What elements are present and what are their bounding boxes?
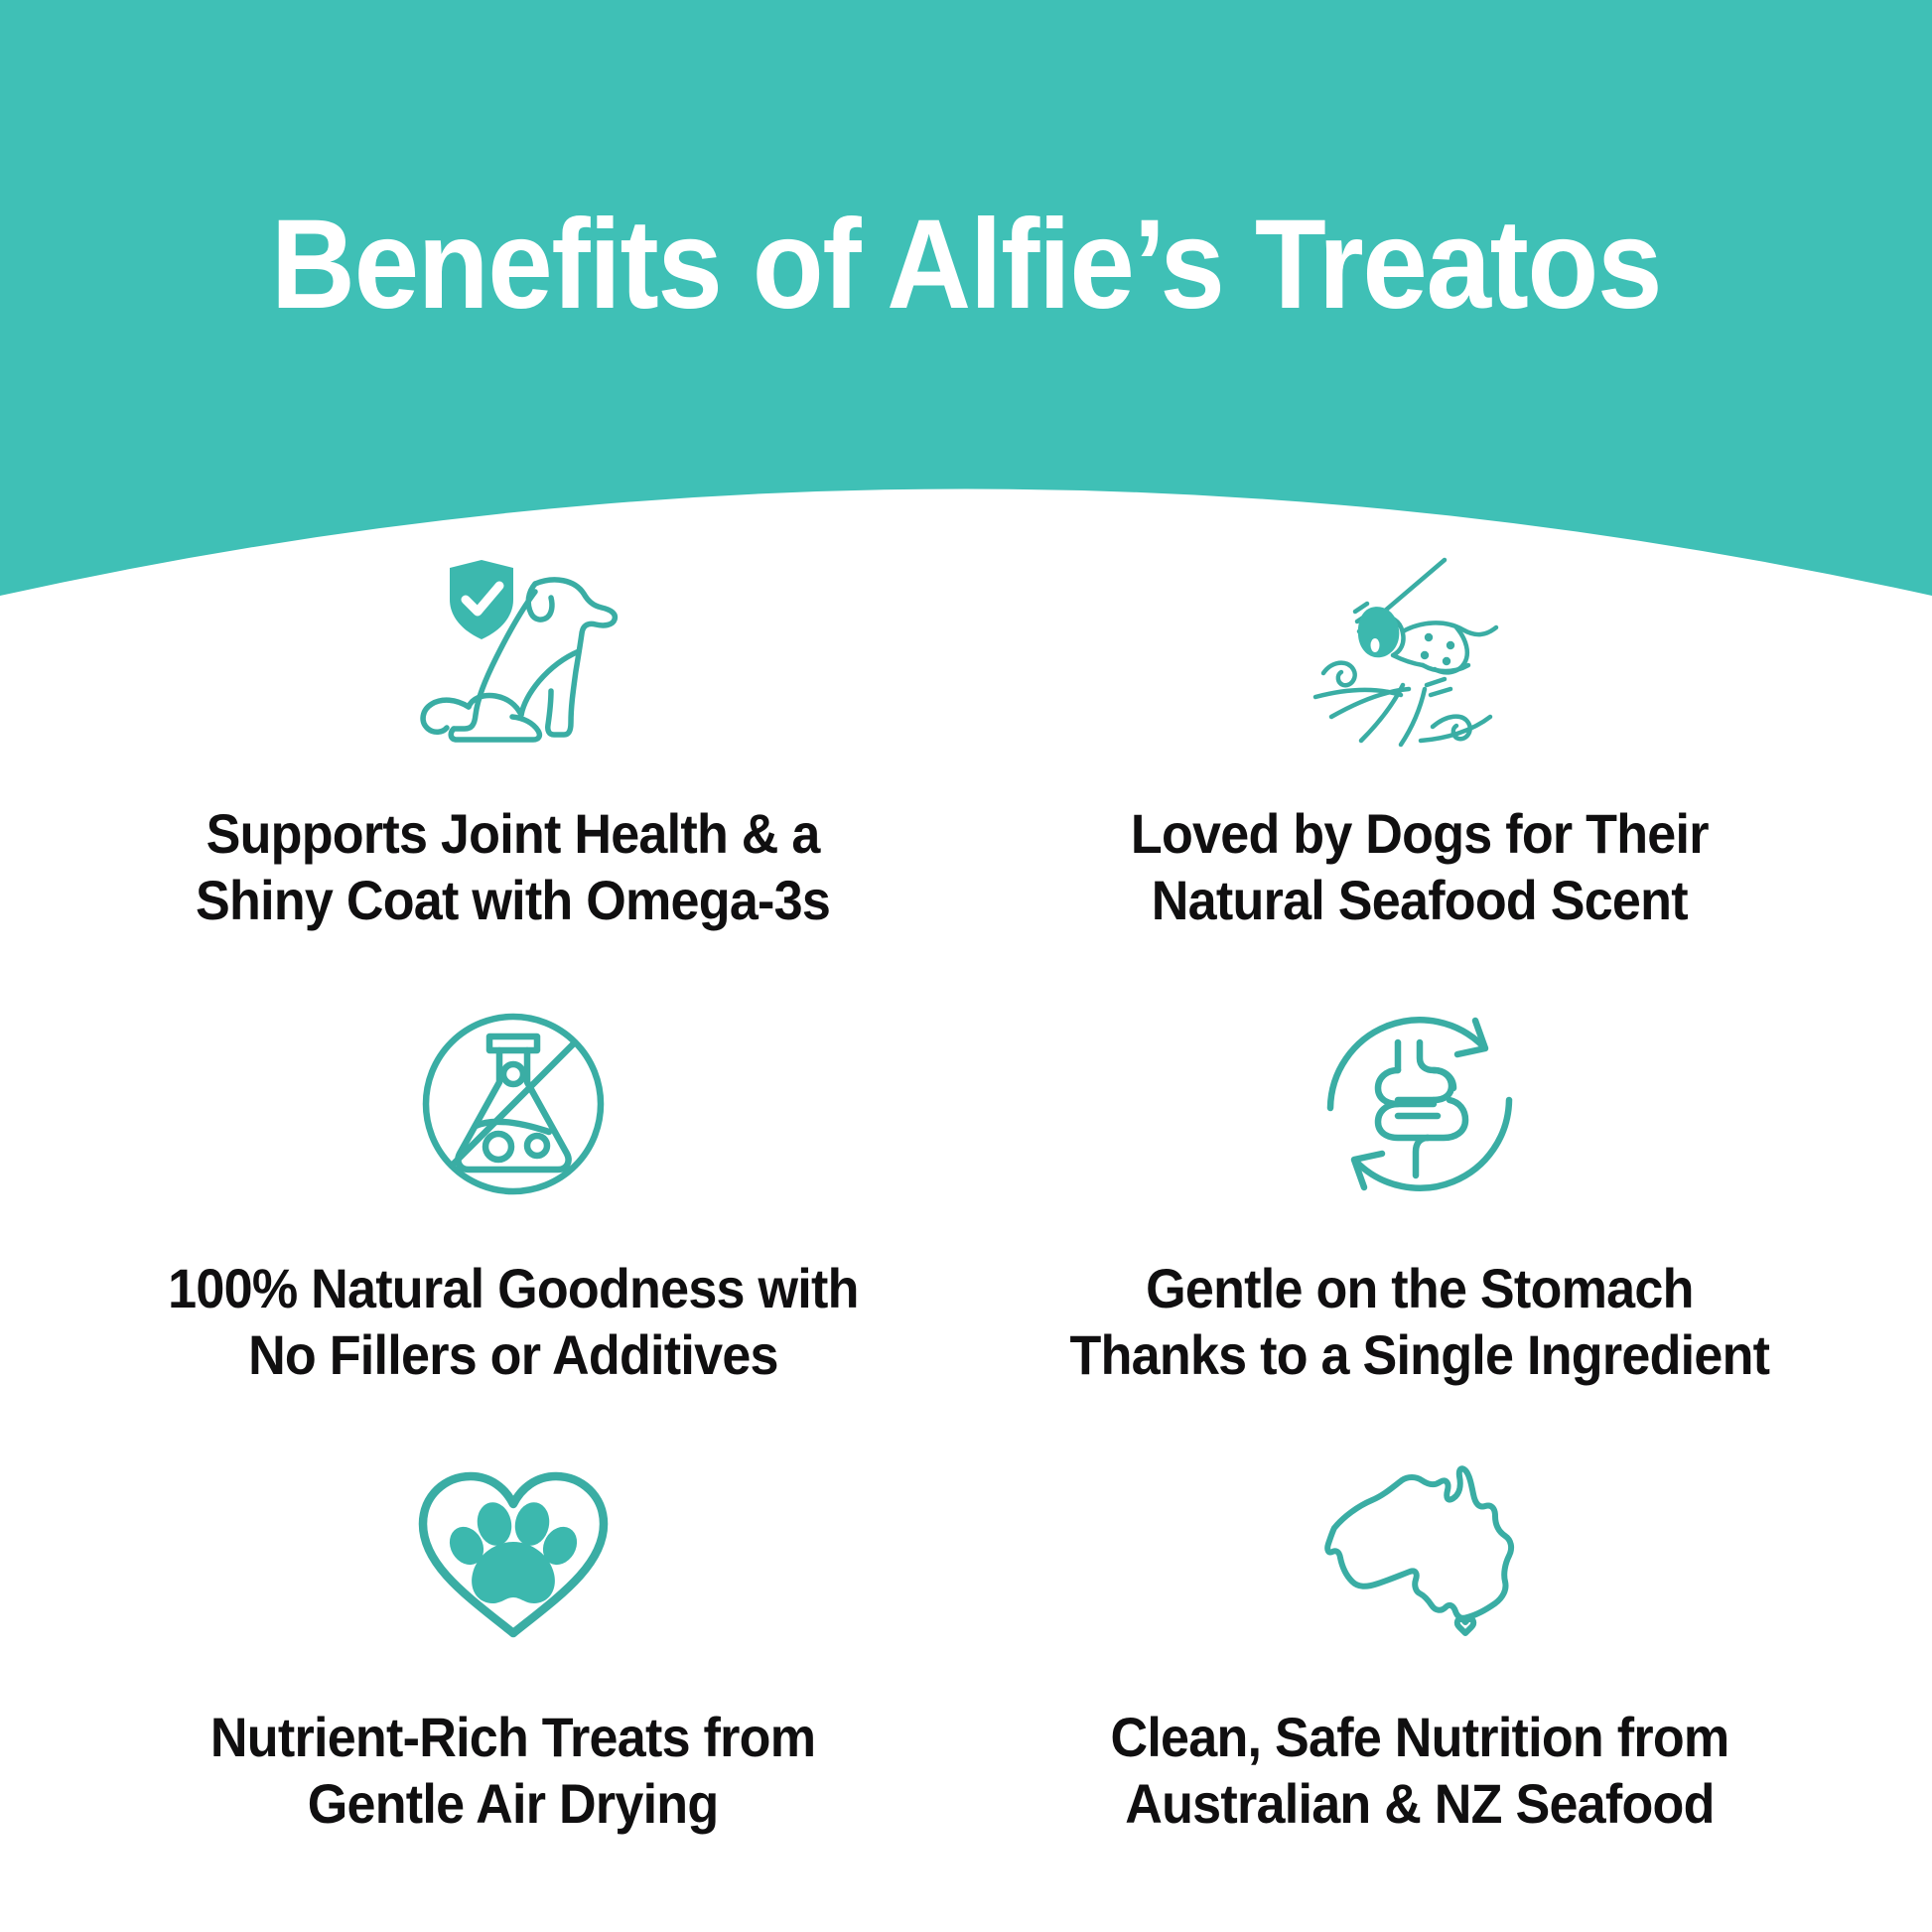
australia-map-icon [1311,1453,1529,1652]
benefit-caption-line-2: Gentle Air Drying [210,1770,815,1837]
benefit-caption: Loved by Dogs for Their Natural Seafood … [1131,800,1709,933]
no-chemicals-flask-icon [414,1005,613,1203]
benefit-caption-line-1: Loved by Dogs for Their [1131,800,1709,867]
benefit-caption-line-2: Natural Seafood Scent [1131,867,1709,933]
dog-nose-scent-icon [1306,556,1534,755]
benefits-poster: Benefits of Alfie’s Treatos [0,0,1932,1932]
benefit-item-gentle-stomach: Gentle on the Stomach Thanks to a Single… [966,1005,1872,1453]
heart-paw-icon [409,1453,618,1652]
benefit-item-no-fillers: 100% Natural Goodness with No Fillers or… [60,1005,966,1453]
benefit-caption-line-1: 100% Natural Goodness with [168,1255,858,1321]
benefit-caption: Supports Joint Health & a Shiny Coat wit… [196,800,830,933]
benefit-item-aus-nz-seafood: Clean, Safe Nutrition from Australian & … [966,1453,1872,1902]
benefit-item-joint-health: Supports Joint Health & a Shiny Coat wit… [60,556,966,1005]
benefit-caption-line-2: No Fillers or Additives [168,1321,858,1388]
dog-shield-icon [384,556,642,755]
benefit-caption: Clean, Safe Nutrition from Australian & … [1110,1704,1728,1837]
benefit-caption: 100% Natural Goodness with No Fillers or… [168,1255,858,1388]
page-title: Benefits of Alfie’s Treatos [77,197,1855,334]
gut-digestion-cycle-icon [1320,1005,1519,1203]
benefit-caption: Nutrient-Rich Treats from Gentle Air Dry… [210,1704,815,1837]
benefit-caption-line-1: Supports Joint Health & a [196,800,830,867]
benefit-item-air-dried: Nutrient-Rich Treats from Gentle Air Dry… [60,1453,966,1902]
benefit-caption-line-2: Shiny Coat with Omega-3s [196,867,830,933]
benefits-grid: Supports Joint Health & a Shiny Coat wit… [60,556,1872,1902]
benefit-item-seafood-scent: Loved by Dogs for Their Natural Seafood … [966,556,1872,1005]
benefit-caption-line-1: Clean, Safe Nutrition from [1110,1704,1728,1770]
benefit-caption-line-2: Australian & NZ Seafood [1110,1770,1728,1837]
benefit-caption-line-1: Gentle on the Stomach [1069,1255,1769,1321]
benefit-caption-line-2: Thanks to a Single Ingredient [1069,1321,1769,1388]
benefit-caption: Gentle on the Stomach Thanks to a Single… [1069,1255,1769,1388]
benefit-caption-line-1: Nutrient-Rich Treats from [210,1704,815,1770]
